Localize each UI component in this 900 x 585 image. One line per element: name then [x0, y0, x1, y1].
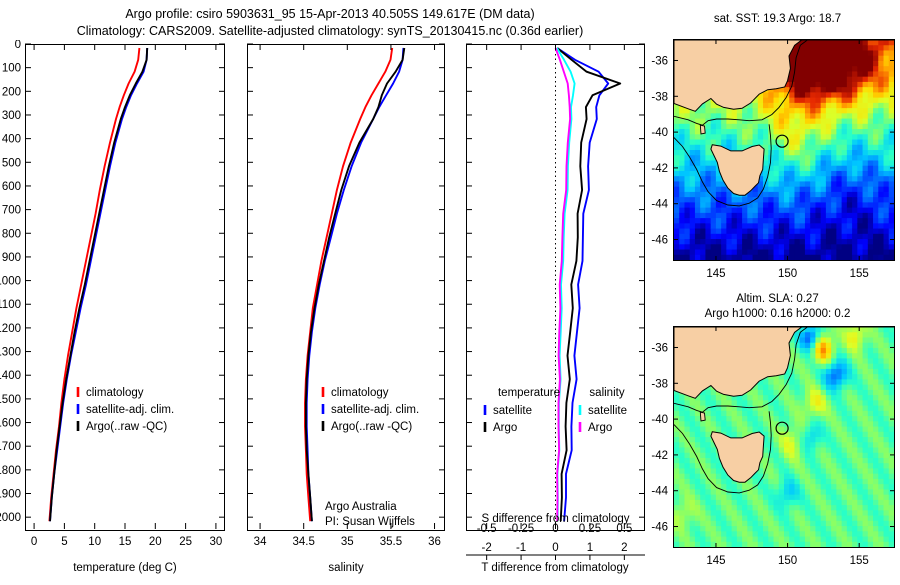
difference-xlabel-top: S difference from climatology: [466, 513, 645, 525]
x-tick-label: 35: [341, 536, 354, 548]
annotation-line-1: Argo Australia: [325, 500, 415, 515]
x-tick-label-bottom: 2: [621, 542, 627, 554]
map-sst-axis-decor: -36-38-40-42-44-46145150155: [640, 33, 900, 298]
x-tick-label: 36: [428, 536, 441, 548]
lat-tick-label: -38: [651, 91, 668, 103]
lat-tick-label: -44: [651, 486, 668, 498]
lat-tick-label: -36: [651, 55, 668, 67]
x-tick-label: 0: [31, 536, 37, 548]
salinity-annotation: Argo Australia PI: Susan Wijffels: [325, 500, 415, 530]
x-tick-label: 34: [254, 536, 267, 548]
depth-tick-label: 1100: [0, 299, 21, 311]
depth-tick-label: 600: [2, 181, 21, 193]
lat-tick-label: -40: [651, 127, 668, 139]
depth-tick-label: 1700: [0, 441, 21, 453]
depth-tick-label: 0: [15, 40, 21, 51]
depth-tick-label: 1400: [0, 370, 21, 382]
lat-tick-label: -40: [651, 414, 668, 426]
annotation-line-2: PI: Susan Wijffels: [325, 515, 415, 530]
depth-tick-label: 1800: [0, 465, 21, 477]
lat-tick-label: -44: [651, 199, 668, 211]
lon-tick-label: 145: [706, 555, 725, 567]
depth-tick-label: 1000: [0, 276, 21, 288]
depth-tick-label: 1900: [0, 489, 21, 501]
x-tick-label: 10: [88, 536, 101, 548]
depth-tick-label: 1500: [0, 394, 21, 406]
map-sst-title: sat. SST: 19.3 Argo: 18.7: [655, 12, 900, 27]
x-tick-label: 30: [210, 536, 223, 548]
depth-tick-label: 400: [2, 134, 21, 146]
temperature-xlabel: temperature (deg C): [25, 562, 225, 574]
lat-tick-label: -46: [651, 522, 668, 534]
x-tick-label: 15: [119, 536, 132, 548]
depth-tick-label: 900: [2, 252, 21, 264]
lon-tick-label: 150: [778, 268, 797, 280]
depth-tick-label: 1300: [0, 347, 21, 359]
x-tick-label-bottom: 1: [587, 542, 593, 554]
x-tick-label: 25: [179, 536, 192, 548]
title-line-1: Argo profile: csiro 5903631_95 15-Apr-20…: [0, 6, 660, 23]
difference-xlabel-bottom: T difference from climatology: [455, 562, 655, 574]
x-tick-label: 5: [61, 536, 67, 548]
x-tick-label-bottom: -1: [516, 542, 526, 554]
depth-tick-label: 300: [2, 110, 21, 122]
lon-tick-label: 155: [850, 268, 869, 280]
depth-tick-label: 2000: [0, 512, 21, 524]
depth-tick-label: 800: [2, 228, 21, 240]
title-line-2: Climatology: CARS2009. Satellite-adjuste…: [0, 23, 660, 40]
x-tick-label-bottom: -2: [482, 542, 492, 554]
x-tick-label: 35.5: [380, 536, 402, 548]
lon-tick-label: 145: [706, 268, 725, 280]
depth-tick-label: 100: [2, 63, 21, 75]
map-sla-axis-decor: -36-38-40-42-44-46145150155: [640, 320, 900, 585]
figure-title: Argo profile: csiro 5903631_95 15-Apr-20…: [0, 6, 660, 40]
depth-tick-label: 1600: [0, 418, 21, 430]
depth-tick-label: 700: [2, 205, 21, 217]
lat-tick-label: -36: [651, 342, 668, 354]
x-tick-label: 20: [149, 536, 162, 548]
lon-tick-label: 155: [850, 555, 869, 567]
lat-tick-label: -38: [651, 378, 668, 390]
x-tick-label-bottom: 0: [552, 542, 558, 554]
x-tick-label: 34.5: [293, 536, 315, 548]
depth-tick-label: 200: [2, 86, 21, 98]
lat-tick-label: -42: [651, 450, 668, 462]
lon-tick-label: 150: [778, 555, 797, 567]
salinity-xlabel: salinity: [247, 562, 445, 574]
difference-axis-decor: -0.5-0.2500.250.5-2-1012: [450, 40, 665, 560]
depth-tick-label: 500: [2, 157, 21, 169]
lat-tick-label: -42: [651, 163, 668, 175]
map-sla-title-line-1: Altim. SLA: 0.27: [655, 292, 900, 307]
map-sla-title: Altim. SLA: 0.27 Argo h1000: 0.16 h2000:…: [655, 292, 900, 322]
salinity-axis-decor: 3434.53535.536: [230, 40, 470, 550]
lat-tick-label: -46: [651, 235, 668, 247]
temperature-axis-decor: 0100200300400500600700800900100011001200…: [0, 40, 250, 550]
depth-tick-label: 1200: [0, 323, 21, 335]
